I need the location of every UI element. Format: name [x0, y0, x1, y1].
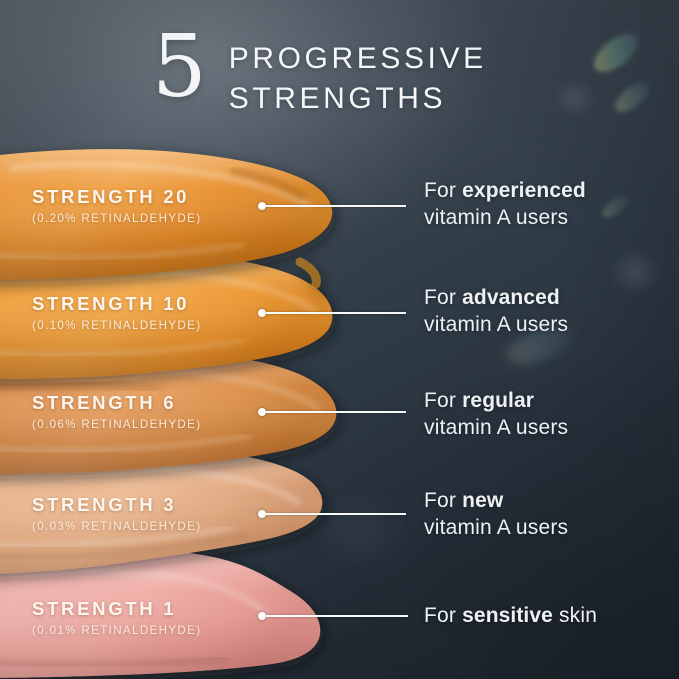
desc-prefix: For: [424, 389, 462, 412]
connector-rule: [266, 411, 406, 413]
description-strength-1: For sensitive skin: [424, 603, 597, 630]
description-line-1: For experienced: [424, 178, 586, 205]
label-strength-20: STRENGTH 20 (0.20% RETINALDEHYDE): [32, 186, 201, 225]
connector-line-3: [258, 509, 406, 519]
description-line-2: vitamin A users: [424, 415, 568, 442]
connector-line-20: [258, 201, 406, 211]
strength-title: STRENGTH 20: [32, 186, 201, 208]
description-line-2: vitamin A users: [424, 515, 568, 542]
desc-suffix: skin: [553, 604, 597, 627]
description-strength-20: For experienced vitamin A users: [424, 178, 586, 232]
connector-rule: [266, 513, 406, 515]
infographic-canvas: 5 PROGRESSIVE STRENGTHS STRENGTH 20 (0.2…: [0, 0, 679, 679]
connector-line-6: [258, 407, 406, 417]
label-strength-6: STRENGTH 6 (0.06% RETINALDEHYDE): [32, 392, 201, 431]
description-line-2: vitamin A users: [424, 312, 568, 339]
description-strength-10: For advanced vitamin A users: [424, 285, 568, 339]
strength-title: STRENGTH 10: [32, 293, 201, 315]
connector-dot-icon: [258, 309, 266, 317]
strength-concentration: (0.01% RETINALDEHYDE): [32, 624, 201, 637]
strength-title: STRENGTH 3: [32, 494, 201, 516]
label-strength-10: STRENGTH 10 (0.10% RETINALDEHYDE): [32, 293, 201, 332]
description-strength-3: For new vitamin A users: [424, 488, 568, 542]
connector-line-10: [258, 308, 406, 318]
strength-concentration: (0.10% RETINALDEHYDE): [32, 319, 201, 332]
connector-rule: [266, 615, 408, 617]
connector-dot-icon: [258, 408, 266, 416]
description-line-2: vitamin A users: [424, 205, 586, 232]
strength-title: STRENGTH 1: [32, 598, 201, 620]
description-line-1: For sensitive skin: [424, 603, 597, 630]
description-line-1: For advanced: [424, 285, 568, 312]
strength-concentration: (0.06% RETINALDEHYDE): [32, 418, 201, 431]
strength-title: STRENGTH 6: [32, 392, 201, 414]
desc-prefix: For: [424, 604, 462, 627]
strength-concentration: (0.20% RETINALDEHYDE): [32, 212, 201, 225]
desc-prefix: For: [424, 179, 462, 202]
desc-emphasis: advanced: [462, 286, 560, 309]
desc-prefix: For: [424, 489, 462, 512]
description-strength-6: For regular vitamin A users: [424, 388, 568, 442]
connector-rule: [266, 205, 406, 207]
connector-dot-icon: [258, 202, 266, 210]
description-line-1: For regular: [424, 388, 568, 415]
label-strength-1: STRENGTH 1 (0.01% RETINALDEHYDE): [32, 598, 201, 637]
strength-concentration: (0.03% RETINALDEHYDE): [32, 520, 201, 533]
connector-rule: [266, 312, 406, 314]
desc-emphasis: experienced: [462, 179, 586, 202]
desc-prefix: For: [424, 286, 462, 309]
label-strength-3: STRENGTH 3 (0.03% RETINALDEHYDE): [32, 494, 201, 533]
connector-line-1: [258, 611, 408, 621]
desc-emphasis: new: [462, 489, 503, 512]
desc-emphasis: sensitive: [462, 604, 553, 627]
connector-dot-icon: [258, 612, 266, 620]
description-line-1: For new: [424, 488, 568, 515]
desc-emphasis: regular: [462, 389, 534, 412]
paint-swatch-group: [0, 0, 679, 679]
connector-dot-icon: [258, 510, 266, 518]
